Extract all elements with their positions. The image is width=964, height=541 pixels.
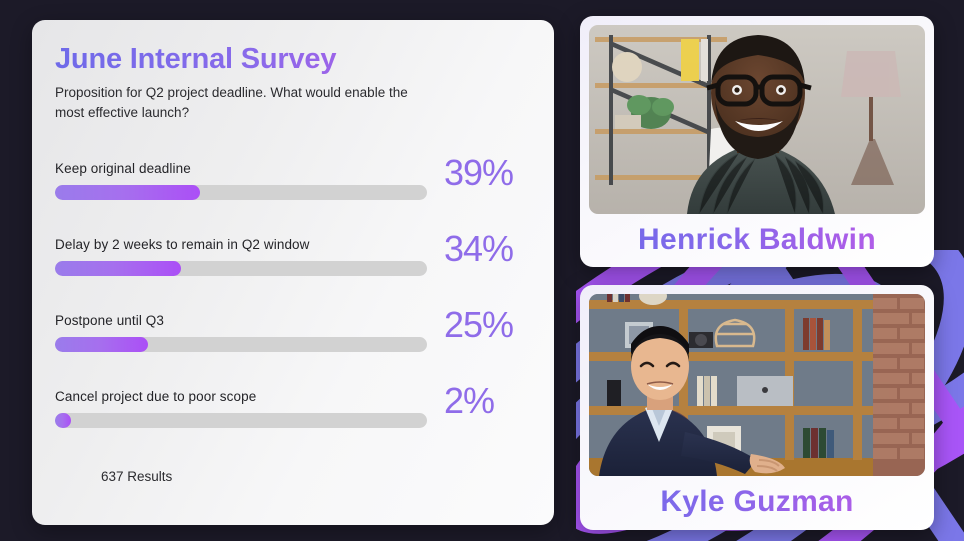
poll-percent-value: 25%	[444, 307, 513, 343]
poll-percent-value: 39%	[444, 155, 513, 191]
poll-option-label: Cancel project due to poor scope	[55, 389, 256, 404]
poll-percent-value: 2%	[444, 383, 494, 419]
poll-bar-track	[55, 185, 427, 200]
participant-name: Kyle Guzman	[589, 487, 925, 517]
poll-bar-fill	[55, 337, 148, 352]
poll-bar-fill	[55, 413, 71, 428]
participant-video-thumbnail[interactable]	[589, 25, 925, 214]
poll-option-label: Delay by 2 weeks to remain in Q2 window	[55, 237, 310, 252]
poll-option[interactable]: Delay by 2 weeks to remain in Q2 window …	[52, 237, 532, 313]
survey-card: June Internal Survey Proposition for Q2 …	[32, 20, 554, 525]
poll-option[interactable]: Postpone until Q3 25%	[52, 313, 532, 389]
survey-subtitle: Proposition for Q2 project deadline. Wha…	[55, 83, 425, 122]
participant-video-thumbnail[interactable]	[589, 294, 925, 476]
page-title: June Internal Survey	[55, 44, 532, 74]
participant-card[interactable]: Kyle Guzman	[580, 285, 934, 530]
poll-option[interactable]: Cancel project due to poor scope 2%	[52, 389, 532, 465]
participant-name: Henrick Baldwin	[589, 225, 925, 255]
poll-option[interactable]: Keep original deadline 39%	[52, 161, 532, 237]
poll-option-label: Keep original deadline	[55, 161, 191, 176]
video-frame-henrick	[589, 25, 925, 214]
poll-bar-track	[55, 261, 427, 276]
poll-bar-fill	[55, 185, 200, 200]
poll-option-label: Postpone until Q3	[55, 313, 164, 328]
poll-bar-fill	[55, 261, 181, 276]
video-frame-kyle	[589, 294, 925, 476]
poll-bar-track	[55, 413, 427, 428]
poll-bar-track	[55, 337, 427, 352]
poll-options-list: Keep original deadline 39% Delay by 2 we…	[52, 161, 532, 465]
participant-card[interactable]: Henrick Baldwin	[580, 16, 934, 267]
results-count: 637 Results	[101, 469, 532, 484]
poll-percent-value: 34%	[444, 231, 513, 267]
